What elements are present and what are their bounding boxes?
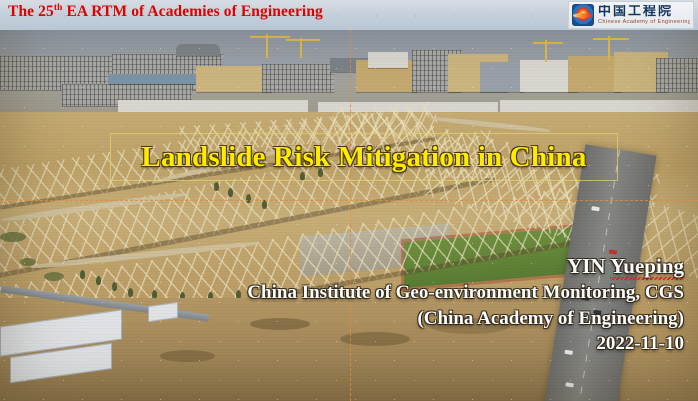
event-title-rest: EA RTM of Academies of Engineering	[62, 3, 322, 20]
presentation-date: 2022-11-10	[124, 331, 684, 356]
logo-english-name: Chinese Academy of Engineering	[598, 20, 690, 26]
academy-logo: 中国工程院 Chinese Academy of Engineering	[568, 1, 694, 29]
horizontal-guide-line	[0, 200, 698, 201]
author-given-name: Yueping	[610, 254, 684, 280]
author-textbox[interactable]: YIN Yueping China Institute of Geo-envir…	[124, 252, 684, 356]
logo-chinese-name: 中国工程院	[598, 5, 690, 18]
chinese-academy-of-engineering-emblem-icon	[572, 4, 594, 26]
logo-text-group: 中国工程院 Chinese Academy of Engineering	[598, 5, 690, 26]
presentation-slide: The 25th EA RTM of Academies of Engineer…	[0, 0, 698, 401]
slide-title: Landslide Risk Mitigation in China	[141, 141, 586, 174]
author-name-line: YIN Yueping	[124, 252, 684, 280]
event-title-prefix: The 25	[8, 3, 54, 20]
slide-title-textbox[interactable]: Landslide Risk Mitigation in China	[110, 133, 618, 181]
author-academy: (China Academy of Engineering)	[124, 306, 684, 331]
slide-header-bar: The 25th EA RTM of Academies of Engineer…	[0, 0, 698, 30]
author-name-prefix: YIN	[567, 254, 610, 278]
event-title: The 25th EA RTM of Academies of Engineer…	[8, 3, 323, 21]
author-affiliation: China Institute of Geo-environment Monit…	[124, 280, 684, 305]
